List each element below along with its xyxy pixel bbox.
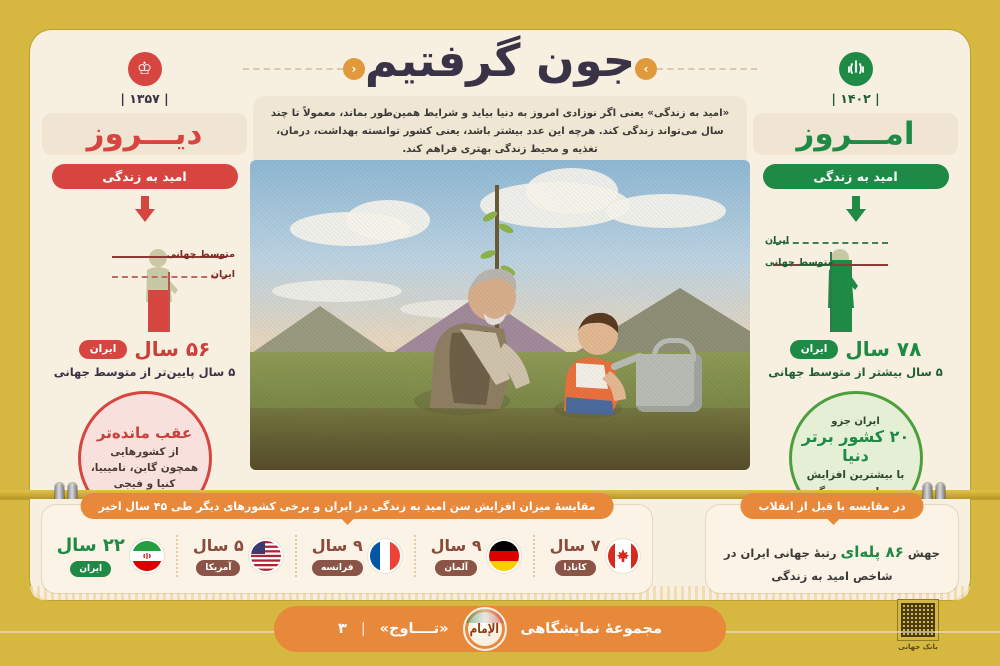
country-name: کانادا — [555, 560, 596, 576]
baseline-marker — [168, 272, 170, 332]
yesterday-value-row: ۵۶ سال ایران — [42, 337, 247, 361]
iran-line — [773, 242, 888, 244]
country-value: ۹ سال — [312, 536, 363, 555]
iran-line — [112, 276, 227, 278]
yesterday-metric-pill: امید به زندگی — [52, 164, 238, 189]
rank-text-before: جهش — [908, 546, 940, 560]
yesterday-heading: دیـــروز — [42, 113, 247, 155]
today-value: ۷۸ سال — [845, 337, 921, 361]
arrow-down-icon — [846, 196, 866, 222]
countries-row: ۲۲ سال ایران ۵ سال آمریکا — [42, 535, 652, 577]
country-item-france[interactable]: ۹ سال فرانسه — [312, 536, 400, 576]
footer-page-number: ۳ — [338, 621, 347, 637]
canada-flag-icon — [608, 541, 638, 571]
today-world-label: متوسط جهانی — [765, 257, 833, 268]
country-name: فرانسه — [312, 560, 363, 576]
cloud-icon — [526, 168, 618, 214]
yesterday-iran-label: ایران — [211, 269, 235, 280]
iran-flag-icon — [132, 541, 162, 571]
country-item-usa[interactable]: ۵ سال آمریکا — [193, 536, 281, 576]
yesterday-iran-bar — [148, 290, 168, 332]
footer-bar: مجموعهٔ نمایشگاهی الإمام «تــــاوج» | ۳ — [274, 606, 726, 652]
yesterday-year: | ۱۳۵۷ | — [42, 91, 247, 106]
divider — [533, 535, 535, 577]
yesterday-world-label: متوسط جهانی — [167, 249, 235, 260]
today-year: | ۱۴۰۲ | — [753, 91, 958, 106]
qr-block[interactable]: بانک جهانی — [898, 600, 938, 651]
rank-card-text: جهش ۸۶ پله‌ای رتبهٔ جهانی ایران در شاخص … — [720, 539, 944, 587]
elderly-man-figure — [400, 233, 550, 418]
watering-can-icon — [636, 354, 702, 412]
today-subtitle: ۵ سال بیشتر از متوسط جهانی — [753, 365, 958, 379]
country-name: آلمان — [435, 560, 477, 576]
lead-paragraph: «امید به زندگی» یعنی اگر نوزادی امروز به… — [253, 96, 747, 168]
today-chart: ایران متوسط جهانی — [753, 224, 958, 332]
country-value: ۲۲ سال — [57, 535, 125, 556]
rank-card: در مقایسه با قبل از انقلاب جهش ۸۶ پله‌ای… — [706, 505, 958, 593]
country-value: ۵ سال — [193, 536, 244, 555]
usa-flag-icon — [251, 541, 281, 571]
yesterday-value-tag: ایران — [79, 340, 128, 359]
footer-collection: مجموعهٔ نمایشگاهی — [521, 621, 662, 637]
today-value-row: ۷۸ سال ایران — [753, 337, 958, 361]
qr-caption: بانک جهانی — [898, 643, 938, 651]
infographic-poster: › ‹ جون گرفتیم «امید به زندگی» یعنی اگر … — [0, 0, 1000, 666]
yesterday-callout-body: از کشورهایی همچون گابن، نامیبیا، کنیا و … — [91, 444, 199, 493]
iran-emblem-icon — [839, 52, 873, 86]
footer-name: «تــــاوج» — [380, 621, 449, 637]
yesterday-subtitle: ۵ سال پایین‌تر از متوسط جهانی — [42, 365, 247, 379]
cloud-icon — [606, 194, 726, 228]
boy-figure — [542, 293, 637, 418]
panel-yesterday: ♔ | ۱۳۵۷ | دیـــروز امید به زندگی متوسط … — [42, 52, 247, 525]
rank-card-heading: در مقایسه با قبل از انقلاب — [740, 493, 923, 519]
organization-logo-icon: الإمام — [463, 607, 507, 651]
france-flag-icon — [370, 541, 400, 571]
today-callout-top: ایران جزو — [831, 416, 880, 427]
today-metric-pill: امید به زندگی — [763, 164, 949, 189]
yesterday-callout-headline: عقب مانده‌تر — [97, 424, 192, 442]
country-item-canada[interactable]: ۷ سال کانادا — [550, 536, 638, 576]
country-item-iran[interactable]: ۲۲ سال ایران — [57, 535, 162, 577]
yesterday-chart: متوسط جهانی ایران — [42, 224, 247, 332]
divider — [414, 535, 416, 577]
panel-today: | ۱۴۰۲ | امـــروز امید به زندگی ایران مت… — [753, 52, 958, 525]
arrow-down-icon — [135, 196, 155, 222]
countries-card-heading: مقایسهٔ میزان افزایش سن امید به زندگی در… — [81, 493, 614, 519]
today-value-tag: ایران — [790, 340, 839, 359]
country-value: ۹ سال — [431, 536, 482, 555]
countries-comparison-card: مقایسهٔ میزان افزایش سن امید به زندگی در… — [42, 505, 652, 593]
country-item-germany[interactable]: ۹ سال آلمان — [431, 536, 519, 576]
yesterday-value: ۵۶ سال — [134, 337, 210, 361]
country-name: ایران — [70, 561, 111, 577]
divider — [176, 535, 178, 577]
country-name: آمریکا — [196, 560, 240, 576]
divider — [295, 535, 297, 577]
today-iran-bar — [832, 260, 852, 332]
qr-code-icon[interactable] — [898, 600, 938, 640]
today-heading: امـــروز — [753, 113, 958, 155]
germany-flag-icon — [489, 541, 519, 571]
country-value: ۷ سال — [550, 536, 601, 555]
footer-separator: | — [361, 621, 366, 637]
rank-highlight: ۸۶ پله‌ای — [841, 543, 904, 561]
illustration-tree-planting — [250, 160, 750, 470]
crown-icon: ♔ — [128, 52, 162, 86]
today-iran-label: ایران — [765, 235, 789, 246]
today-callout-headline: ۲۰ کشور برتر دنیا — [802, 427, 910, 465]
logo-text: الإمام — [470, 622, 499, 637]
